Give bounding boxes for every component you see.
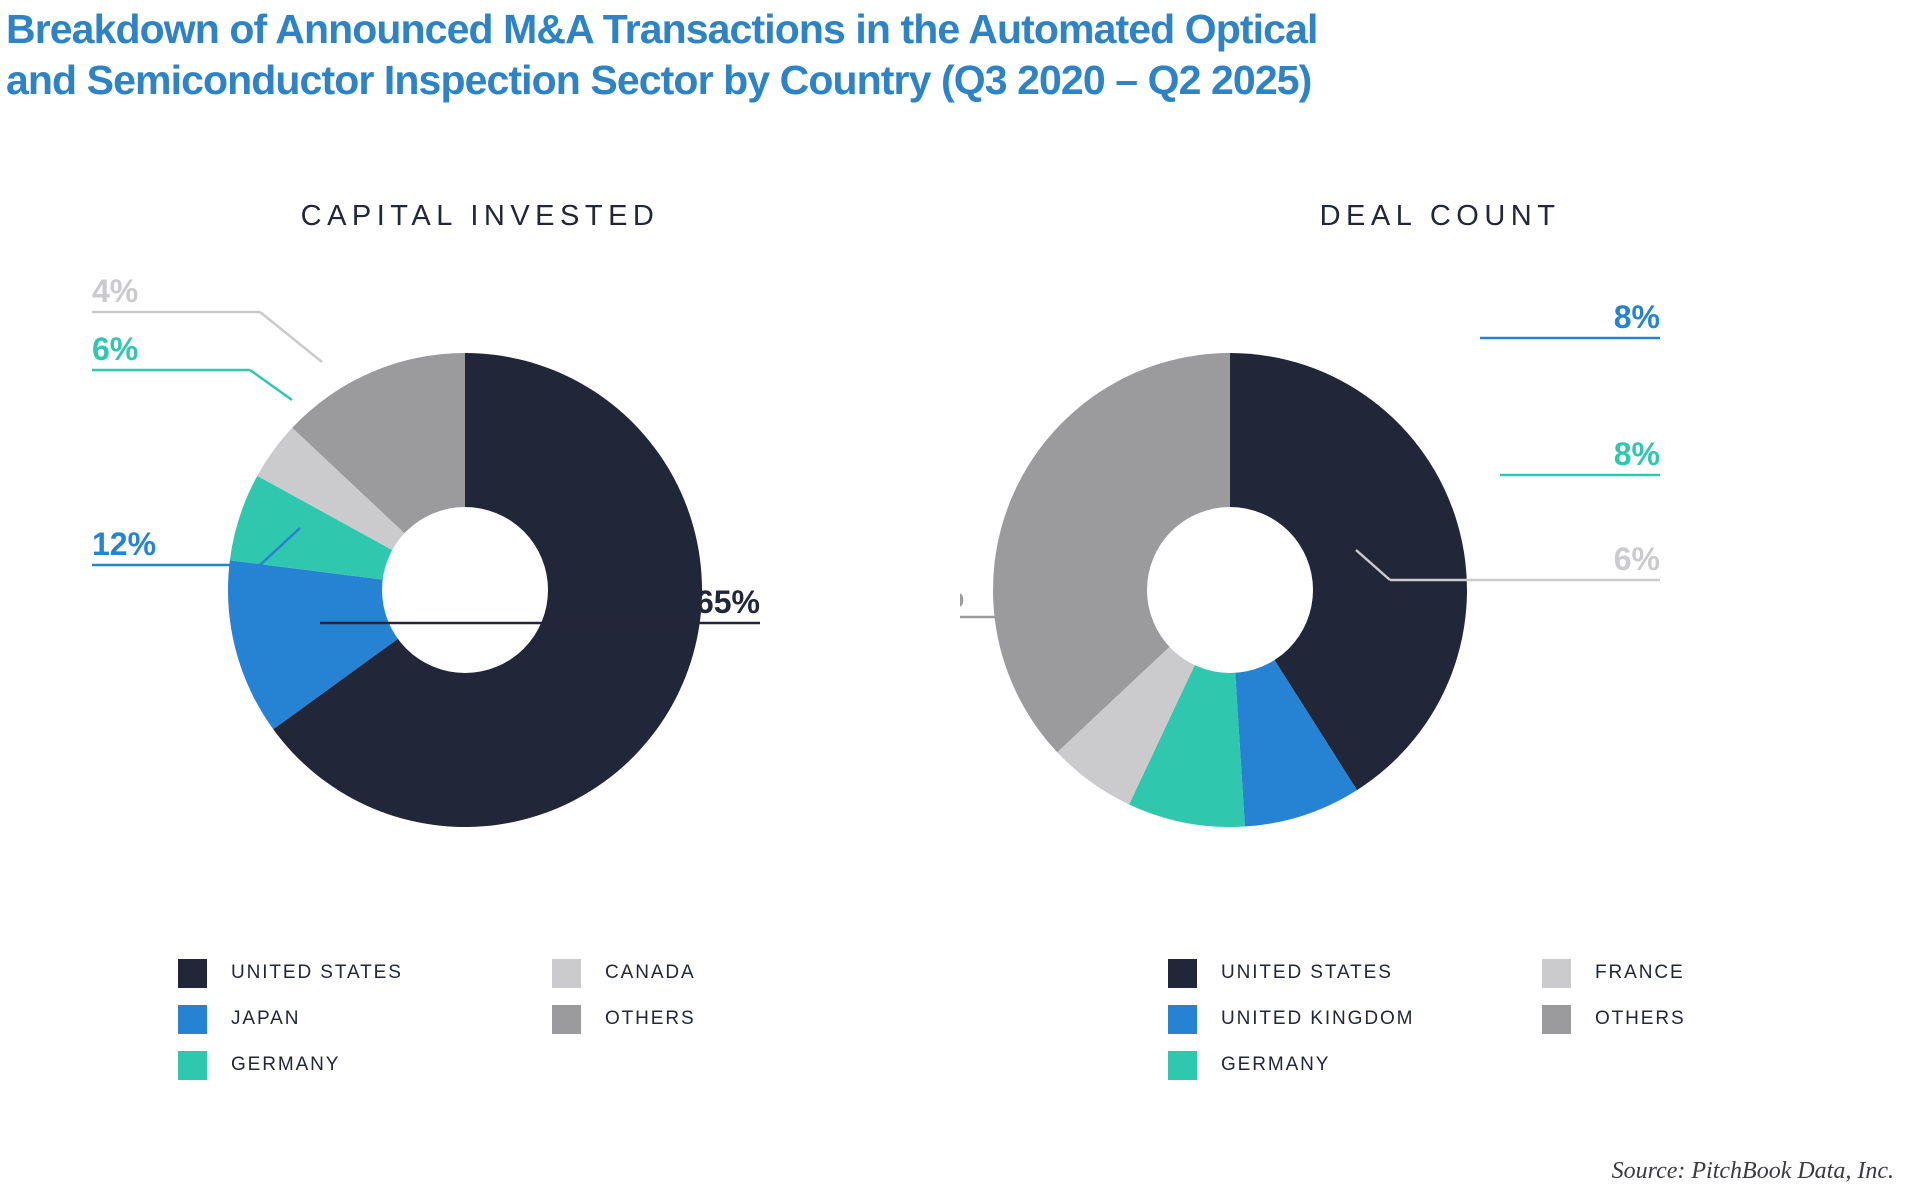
chart-page: Breakdown of Announced M&A Transactions …: [0, 0, 1920, 1195]
slice-value-label: 12%: [92, 526, 156, 562]
leader-line-elbow: [250, 370, 292, 400]
slice-value-label: 8%: [1614, 299, 1660, 335]
legend-item[interactable]: CANADA: [552, 950, 696, 996]
legend-label: GERMANY: [231, 1054, 340, 1076]
legend-swatch-germany: [178, 1051, 207, 1080]
leader-line-elbow: [260, 312, 322, 362]
legend-label: CANADA: [605, 962, 696, 984]
legend-capital-invested: UNITED STATES JAPAN GERMANY CANADA: [0, 950, 960, 1120]
slice-value-label: 37%: [960, 578, 964, 614]
legend-swatch-germany: [1168, 1051, 1197, 1080]
legend-item[interactable]: OTHERS: [552, 996, 696, 1042]
legend-column-a: UNITED STATES UNITED KINGDOM GERMANY: [1168, 950, 1414, 1088]
chart-panel-deal-count: DEAL COUNT 41%8%8%6%37% UNITED STATES UN…: [960, 160, 1920, 1160]
page-title-line-2: and Semiconductor Inspection Sector by C…: [6, 55, 1906, 106]
legend-item[interactable]: FRANCE: [1542, 950, 1686, 996]
legend-item[interactable]: GERMANY: [178, 1042, 403, 1088]
slice-value-label: 6%: [1614, 541, 1660, 577]
legend-item[interactable]: UNITED STATES: [178, 950, 403, 996]
donut-chart-deal-count: 41%8%8%6%37%: [960, 250, 1920, 930]
legend-column-b: FRANCE OTHERS: [1542, 950, 1686, 1042]
legend-swatch-others: [1542, 1005, 1571, 1034]
slice-value-label: 8%: [1614, 436, 1660, 472]
legend-label: UNITED STATES: [231, 962, 403, 984]
legend-label: FRANCE: [1595, 962, 1685, 984]
source-attribution: Source: PitchBook Data, Inc.: [1612, 1158, 1894, 1185]
legend-swatch-others: [552, 1005, 581, 1034]
legend-label: UNITED KINGDOM: [1221, 1008, 1414, 1030]
page-title: Breakdown of Announced M&A Transactions …: [6, 4, 1906, 106]
legend-label: OTHERS: [605, 1008, 696, 1030]
donut-hole: [382, 507, 548, 673]
legend-label: OTHERS: [1595, 1008, 1686, 1030]
slice-value-label: 4%: [92, 273, 138, 309]
legend-swatch-united-kingdom: [1168, 1005, 1197, 1034]
legend-item[interactable]: UNITED KINGDOM: [1168, 996, 1414, 1042]
legend-column-b: CANADA OTHERS: [552, 950, 696, 1042]
chart-heading-deal-count: DEAL COUNT: [960, 200, 1920, 233]
legend-label: GERMANY: [1221, 1054, 1330, 1076]
donut-chart-capital-invested: 65%12%6%4%13%: [0, 250, 960, 930]
slice-value-label: 6%: [92, 331, 138, 367]
legend-swatch-france: [1542, 959, 1571, 988]
legend-column-a: UNITED STATES JAPAN GERMANY: [178, 950, 403, 1088]
donut-svg-capital-invested: 65%12%6%4%13%: [0, 250, 960, 930]
legend-label: JAPAN: [231, 1008, 300, 1030]
legend-item[interactable]: JAPAN: [178, 996, 403, 1042]
legend-deal-count: UNITED STATES UNITED KINGDOM GERMANY FRA…: [960, 950, 1920, 1120]
legend-swatch-united-states: [178, 959, 207, 988]
donut-hole: [1147, 507, 1313, 673]
legend-swatch-japan: [178, 1005, 207, 1034]
legend-item[interactable]: OTHERS: [1542, 996, 1686, 1042]
slice-value-label: 65%: [696, 584, 760, 620]
legend-swatch-canada: [552, 959, 581, 988]
legend-label: UNITED STATES: [1221, 962, 1393, 984]
legend-item[interactable]: GERMANY: [1168, 1042, 1414, 1088]
chart-panel-capital-invested: CAPITAL INVESTED 65%12%6%4%13% UNITED ST…: [0, 160, 960, 1160]
chart-heading-capital-invested: CAPITAL INVESTED: [0, 200, 960, 233]
donut-svg-deal-count: 41%8%8%6%37%: [960, 250, 1920, 930]
page-title-line-1: Breakdown of Announced M&A Transactions …: [6, 4, 1906, 55]
legend-item[interactable]: UNITED STATES: [1168, 950, 1414, 996]
legend-swatch-united-states: [1168, 959, 1197, 988]
